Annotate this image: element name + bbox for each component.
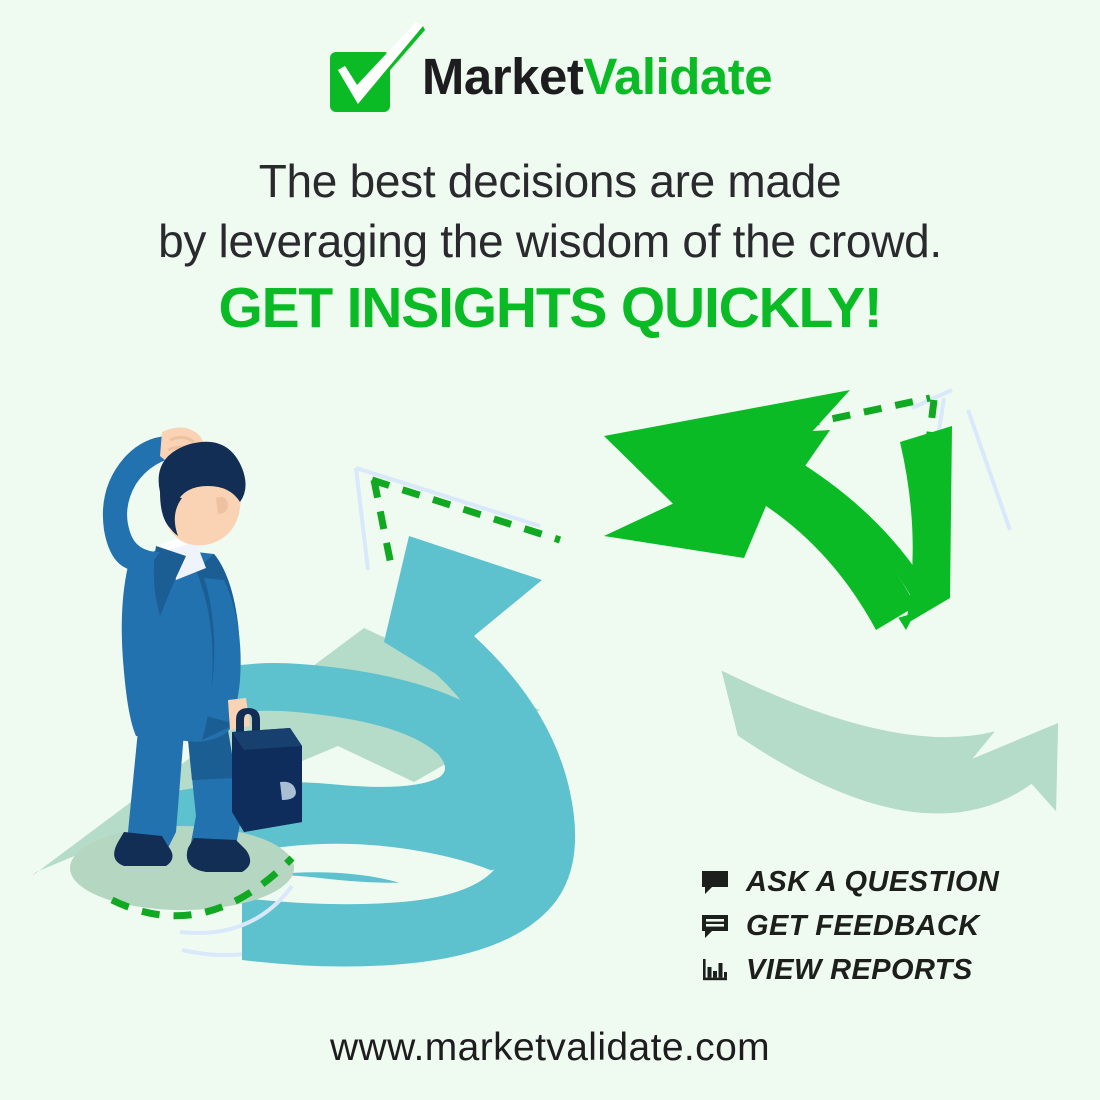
speech-bubble-icon [700, 867, 730, 897]
brand-name-part2: Validate [583, 48, 772, 105]
bar-chart-icon [700, 955, 730, 985]
brand-name: MarketValidate [422, 51, 772, 102]
sage-right-arrow [722, 671, 1059, 814]
green-check-square-icon [328, 38, 404, 114]
feature-label: GET FEEDBACK [746, 910, 980, 943]
footer-url[interactable]: www.marketvalidate.com [0, 1026, 1100, 1070]
feature-item-view-reports[interactable]: VIEW REPORTS [700, 950, 1020, 990]
feature-item-ask-a-question[interactable]: ASK A QUESTION [700, 862, 1020, 902]
feature-label: ASK A QUESTION [746, 866, 999, 899]
headline-line-2: by leveraging the wisdom of the crowd. [0, 212, 1100, 272]
ground-ellipse [70, 826, 294, 910]
brand-logo[interactable]: MarketValidate [0, 38, 1100, 114]
feature-label: VIEW REPORTS [746, 954, 973, 987]
feedback-bubble-icon [700, 911, 730, 941]
headline: The best decisions are made by leveragin… [0, 152, 1100, 272]
feature-item-get-feedback[interactable]: GET FEEDBACK [700, 906, 1020, 946]
brand-name-part1: Market [422, 48, 583, 105]
poster-canvas: MarketValidate The best decisions are ma… [0, 0, 1100, 1100]
headline-line-1: The best decisions are made [259, 155, 842, 207]
tagline: GET INSIGHTS QUICKLY! [0, 280, 1100, 337]
feature-list: ASK A QUESTION GET FEEDBACK [700, 862, 1020, 990]
